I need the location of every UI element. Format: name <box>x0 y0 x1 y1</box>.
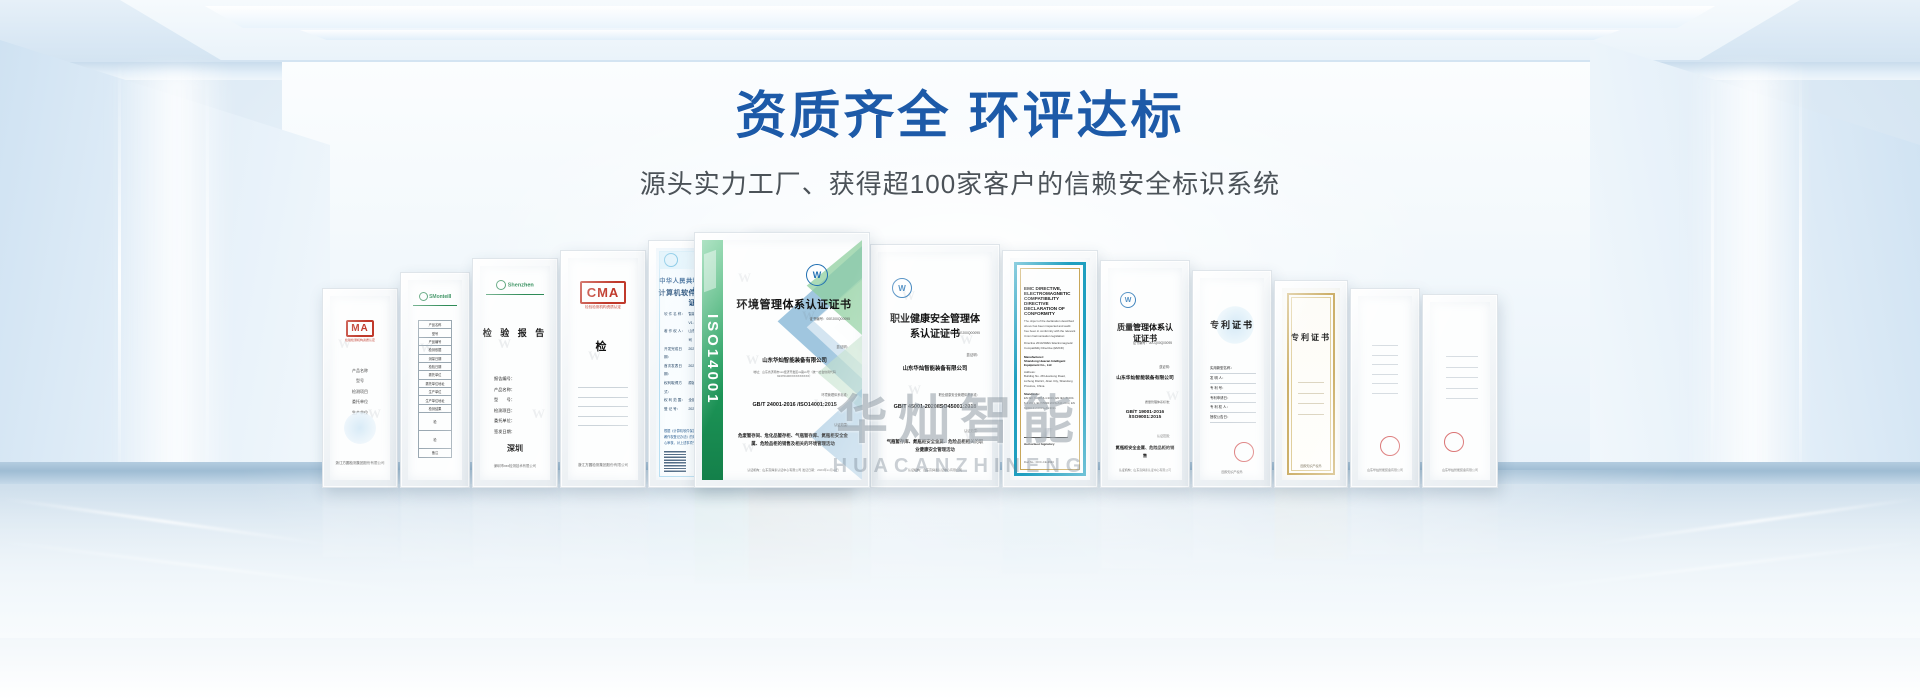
ceiling-light-strip <box>205 6 1715 28</box>
page-subtitle: 源头实力工厂、获得超100家客户的信赖安全标识系统 <box>0 164 1920 201</box>
patent-1-footer: 国家知识产权局 <box>1206 470 1258 474</box>
certificate-frame-iso45001-2[interactable]: WW WW W 职业健康安全管理体系认证证书 证书编号：00EJ00Q00095… <box>870 244 1000 488</box>
report-field: 型 号： <box>494 395 540 406</box>
red-seal-icon <box>1380 436 1400 456</box>
report-logo-text: SMonteill <box>429 294 451 300</box>
iso45001-2-certno: 00EJ00Q00095 <box>956 331 980 335</box>
report-field: 产品名称： <box>494 385 540 396</box>
iso45001-2-org: 山东华灿智能装备有限公司 <box>886 364 984 372</box>
iso14001-standard-label: 环境管理体系标准： <box>821 392 850 397</box>
iso45001-2-standard-label: 职业健康安全管理体系标准： <box>939 392 980 397</box>
certificate-frame-ce-declaration[interactable]: EMC DIRECTIVE, ELECTROMAGNETIC COMPATIBI… <box>1002 250 1098 488</box>
report-row: 产品编号 <box>418 338 452 346</box>
report-footer-org: 深圳 <box>480 443 550 454</box>
copyright-field-key: 著 作 权 人： <box>664 327 688 344</box>
copyright-field-key: 开发完成日期： <box>664 345 688 362</box>
red-seal-icon <box>1234 442 1254 462</box>
report-row: 检验日期 <box>418 363 452 371</box>
certificate-frame-patent-1[interactable]: 专利证书 实用新型名称： 发 明 人： 专 利 号： 专利申请日： 专 利 权 … <box>1192 270 1272 488</box>
honor-1-footer: 山东华灿智能装备有限公司 <box>1363 468 1407 472</box>
cma-footer: 浙江方圆检测集团股份有限公司 <box>574 463 632 468</box>
ma-stamp-badge: MA <box>346 320 374 337</box>
report-logo-text: Shenzhen <box>508 282 534 288</box>
iso14001-certno-label: 证书编号： <box>809 317 826 321</box>
certificate-frame-iso9001[interactable]: WW W 质量管理体系认证证书 证书编号：00CQ00Q00095 兹证明： 山… <box>1100 260 1190 488</box>
certification-emblem-icon: W <box>806 264 828 286</box>
report-row: 测量日期 <box>418 355 452 363</box>
report-field: 报告编号： <box>494 374 540 385</box>
copyright-field-key: 登 记 号： <box>664 405 688 414</box>
report-row: 检测结果 <box>418 405 452 413</box>
hero-text-block: 资质齐全 环评达标 源头实力工厂、获得超100家客户的信赖安全标识系统 <box>0 86 1920 201</box>
report-row-stamp-2: 检 <box>418 431 452 449</box>
patent-field: 专 利 权 人： <box>1210 403 1256 413</box>
iso14001-org-label: 兹证明： <box>836 344 850 349</box>
patent-field: 发 明 人： <box>1210 374 1256 384</box>
iso14001-scope-label: 认证范围： <box>834 422 850 427</box>
copyright-field-key: 权 利 范 围： <box>664 396 688 405</box>
report-rule <box>486 294 544 295</box>
ce-standards: EN IEC 61000-6-1:2019, EN IEC 61000-6-3:… <box>1024 396 1076 410</box>
iso45001-2-footer: 认证机构：山东高舜泰认证中心有限公司 <box>886 468 984 472</box>
ma-cert-hologram <box>344 412 376 444</box>
report-row: 备注 <box>418 449 452 457</box>
ce-body-2: Directive 2014/30/EU Electromagnetic Com… <box>1024 341 1076 351</box>
iso9001-certno: 00CQ00Q00095 <box>1149 341 1172 345</box>
iso14001-org: 山东华灿智能装备有限公司 <box>737 356 852 364</box>
ce-signature-mark <box>1024 428 1068 438</box>
reflection-fade-overlay <box>0 488 1920 638</box>
report-row: 委托单位地址 <box>418 380 452 388</box>
cma-stamp-badge: CMA <box>580 281 627 304</box>
copyright-emblem-icon <box>664 253 678 267</box>
iso45001-2-org-label: 兹证明： <box>966 352 980 357</box>
report-row: 产品名称 <box>418 320 452 329</box>
report-field: 签发日期： <box>494 427 540 438</box>
patent-field: 专利申请日： <box>1210 394 1256 404</box>
patent-field: 实用新型名称： <box>1210 364 1256 374</box>
certificate-frame-test-report-2[interactable]: WW Shenzhen 检 验 报 告 报告编号： 产品名称： 型 号： 检测项… <box>472 258 558 488</box>
ce-body-1: The object of the declaration described … <box>1024 319 1076 339</box>
honor-2-footer: 山东华灿智能装备有限公司 <box>1435 468 1485 472</box>
iso14001-scope: 危废暂存间、危化品暂存柜、气瓶暂存库、氮瓶柜安全金属、危险品柜的销售及相关的环境… <box>734 432 852 449</box>
report-field: 委托单位： <box>494 416 540 427</box>
certification-emblem-icon: W <box>1120 292 1136 308</box>
certificate-frame-honor-2[interactable]: 山东华灿智能装备有限公司 <box>1422 294 1498 488</box>
report-row: 生产单位 <box>418 388 452 396</box>
certificate-frame-ma[interactable]: WW MA 检验检测机构资质认定 产品名称 型号 检测项目 委托单位 生产单位 … <box>322 288 398 488</box>
iso14001-title: 环境管理体系认证证书 <box>734 296 854 312</box>
iso9001-scope: 氮瓶柜安全金属、危险品柜的销售 <box>1114 444 1176 460</box>
report-field: 检测项目： <box>494 406 540 417</box>
ma-cert-line-3: 检测项目 <box>336 387 384 397</box>
iso9001-org-label: 兹证明： <box>1159 364 1172 369</box>
iso9001-footer: 认证机构：山东高舜泰认证中心有限公司 <box>1114 468 1176 472</box>
certificate-frame-honor-1[interactable]: 山东华灿智能装备有限公司 <box>1350 288 1420 488</box>
ma-cert-line-2: 型号 <box>336 376 384 386</box>
iso9001-standard-label: 质量管理体系标准： <box>1145 400 1172 404</box>
ceiling-light-strip-secondary <box>300 30 1620 40</box>
ce-docno: Doc No.: DOC-CE-2023 <box>1024 460 1054 464</box>
report-seal-icon <box>496 280 506 290</box>
report-row-stamp: 检 <box>418 413 452 431</box>
copyright-field-key: 软 件 名 称： <box>664 310 688 327</box>
red-seal-icon <box>1444 432 1464 452</box>
patent-2-title: 专利证书 <box>1282 332 1340 343</box>
iso45001-2-standard: GB/T 45001-2020/ISO45001:2018 <box>886 404 984 410</box>
iso9001-certno-label: 证书编号： <box>1133 341 1149 345</box>
ce-signature: Authorised Signatory <box>1024 442 1055 446</box>
report-seal-icon <box>419 292 428 301</box>
iso45001-2-title: 职业健康安全管理体系认证证书 <box>886 310 984 340</box>
ce-title-3: DECLARATION OF CONFORMITY <box>1024 306 1076 316</box>
certificate-shelf: WW MA 检验检测机构资质认定 产品名称 型号 检测项目 委托单位 生产单位 … <box>0 228 1920 488</box>
ce-manufacturer: Shandong Huacan Intelligent Equipment Co… <box>1024 359 1076 367</box>
iso9001-org: 山东华灿智能装备有限公司 <box>1114 374 1176 381</box>
certificate-frame-patent-2[interactable]: 专利证书 国家知识产权局 <box>1274 280 1348 488</box>
cma-stamp-sub: 检验检测机构资质认定 <box>568 305 638 310</box>
page-title: 资质齐全 环评达标 <box>0 86 1920 146</box>
iso14001-address: 地址：山东省济南市xxx经济开发区xx路xx号（统一社会信用代码 9137010… <box>737 370 852 378</box>
qr-code-icon <box>664 450 686 472</box>
ma-stamp-sub: 检验检测机构资质认定 <box>330 338 390 342</box>
ma-cert-footer: 浙江方圆检测集团股份有限公司 <box>334 461 386 466</box>
iso45001-2-scope: 气瓶暂存库、氮瓶柜安全金属、危险品柜相关的职业健康安全管理活动 <box>886 438 984 455</box>
iso45001-2-scope-label: 认证范围： <box>964 428 980 433</box>
patent-field: 专 利 号： <box>1210 384 1256 394</box>
iso9001-standard: GB/T 19001-2016 /ISO9001:2015 <box>1114 410 1176 420</box>
copyright-field-key: 权利取得方式： <box>664 379 688 396</box>
ma-cert-line-1: 产品名称 <box>336 366 384 376</box>
patent-2-footer: 国家知识产权局 <box>1288 464 1334 468</box>
iso14001-standard: GB/T 24001-2016 /ISO14001:2015 <box>737 402 852 408</box>
certificate-frame-iso14001[interactable]: ISO14001 WW WW W W 环境管理体系认证证书 <box>694 232 870 488</box>
certificate-frame-test-report-1[interactable]: W SMonteill 产品名称 型号 产品编号 检测依据 测量日期 检验日期 … <box>400 272 470 488</box>
certification-emblem-icon: W <box>892 278 912 298</box>
report-title: 检 验 报 告 <box>480 326 550 339</box>
copyright-field-key: 首次发表日期： <box>664 362 688 379</box>
report-row: 检测依据 <box>418 346 452 354</box>
report-footer-org-full: 深圳市xxx检测技术有限公司 <box>480 463 550 468</box>
iso45001-2-certno-label: 证书编号： <box>939 331 956 335</box>
report-rule <box>413 305 457 306</box>
showroom-stage: 资质齐全 环评达标 源头实力工厂、获得超100家客户的信赖安全标识系统 WW M… <box>0 0 1920 700</box>
report-row: 型号 <box>418 329 452 337</box>
patent-field: 授权公告日： <box>1210 413 1256 423</box>
report-row: 生产单位地址 <box>418 396 452 404</box>
certificate-frame-cma[interactable]: W CMA 检验检测机构资质认定 检 浙江方圆检测集团股份有限公司 <box>560 250 646 488</box>
report-row: 委托单位 <box>418 371 452 379</box>
iso14001-footer: 认证机构：山东高舜泰认证中心有限公司 发证日期：2023年xx月xx日 <box>734 468 852 472</box>
iso14001-certno: 00EJ00Q00095 <box>826 317 850 321</box>
patent-1-title: 专利证书 <box>1200 318 1264 331</box>
ma-cert-line-4: 委托单位 <box>336 397 384 407</box>
ce-title-2: ELECTROMAGNETIC COMPATIBILITY DIRECTIVE <box>1024 291 1076 306</box>
iso9001-scope-label: 认证范围： <box>1157 434 1172 438</box>
cma-title: 检 <box>568 338 638 354</box>
ce-address: Building No. 28 Huantong Road, Licheng D… <box>1024 374 1076 389</box>
